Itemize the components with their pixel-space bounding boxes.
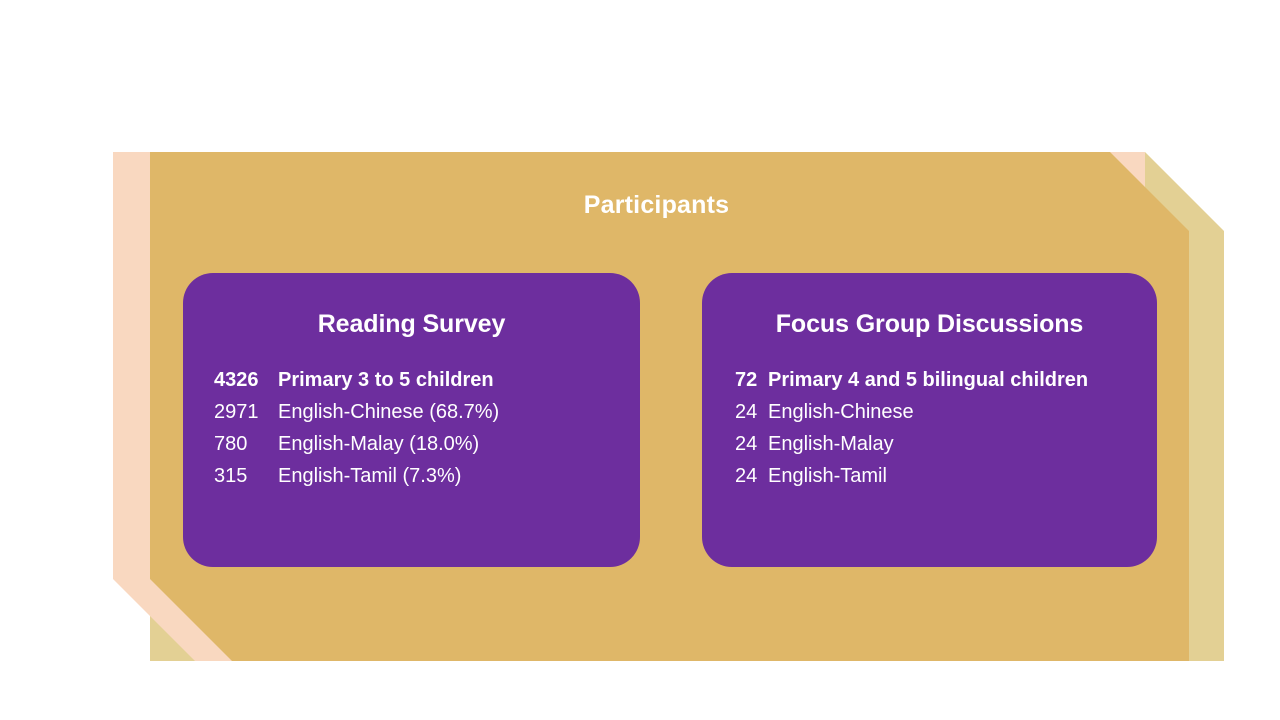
stat-count: 780 [214,428,278,460]
slide-canvas: Participants Reading Survey 4326 Primary… [0,0,1280,720]
stat-label: English-Malay [768,428,894,460]
list-item: 315 English-Tamil (7.3%) [214,460,499,492]
stat-count: 24 [735,396,768,428]
stat-label: Primary 4 and 5 bilingual children [768,364,1088,396]
stat-label: English-Chinese [768,396,914,428]
stat-list-reading-survey: 4326 Primary 3 to 5 children 2971 Englis… [214,364,499,492]
list-item: 4326 Primary 3 to 5 children [214,364,499,396]
card-reading-survey: Reading Survey 4326 Primary 3 to 5 child… [183,273,640,567]
stat-list-focus-group: 72 Primary 4 and 5 bilingual children 24… [735,364,1088,492]
card-title-focus-group: Focus Group Discussions [702,310,1157,339]
list-item: 24 English-Chinese [735,396,1088,428]
stat-label: English-Tamil (7.3%) [278,460,461,492]
list-item: 780 English-Malay (18.0%) [214,428,499,460]
stat-count: 72 [735,364,768,396]
card-title-reading-survey: Reading Survey [183,310,640,339]
stat-label: Primary 3 to 5 children [278,364,494,396]
list-item: 24 English-Malay [735,428,1088,460]
stat-count: 24 [735,460,768,492]
stat-label: English-Chinese (68.7%) [278,396,499,428]
stat-count: 2971 [214,396,278,428]
stat-label: English-Malay (18.0%) [278,428,479,460]
page-title: Participants [150,190,1163,220]
stat-label: English-Tamil [768,460,887,492]
list-item: 24 English-Tamil [735,460,1088,492]
stat-count: 24 [735,428,768,460]
stat-count: 315 [214,460,278,492]
stat-count: 4326 [214,364,278,396]
list-item: 72 Primary 4 and 5 bilingual children [735,364,1088,396]
list-item: 2971 English-Chinese (68.7%) [214,396,499,428]
card-focus-group: Focus Group Discussions 72 Primary 4 and… [702,273,1157,567]
